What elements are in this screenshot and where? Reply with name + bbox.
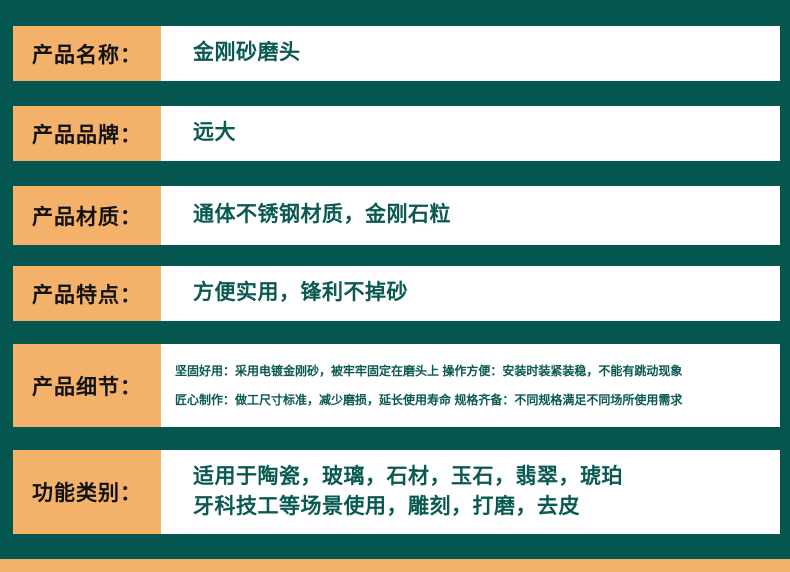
spec-label-function-category: 功能类别： [13,450,161,534]
spec-value-function-category: 适用于陶瓷，玻璃，石材，玉石，翡翠，琥珀 牙科技工等场景使用，雕刻，打磨，去皮 [161,450,780,534]
spec-value-product-material: 通体不锈钢材质，金刚石粒 [161,186,780,245]
spec-value-product-name: 金刚砂磨头 [161,26,780,81]
spec-value-line: 金刚砂磨头 [193,39,770,67]
spec-row-product-brand: 产品品牌： 远大 [13,106,780,161]
spec-value-product-feature: 方便实用，锋利不掉砂 [161,266,780,321]
spec-value-line: 远大 [193,119,770,147]
spec-value-line: 匠心制作：做工尺寸标准，减少磨损，延长使用寿命 规格齐备：不同规格满足不同场所使… [175,393,770,408]
spec-row-function-category: 功能类别： 适用于陶瓷，玻璃，石材，玉石，翡翠，琥珀 牙科技工等场景使用，雕刻，… [13,450,780,534]
spec-value-line: 适用于陶瓷，玻璃，石材，玉石，翡翠，琥珀 [193,462,770,492]
spec-value-line: 牙科技工等场景使用，雕刻，打磨，去皮 [193,492,770,522]
spec-value-line: 坚固好用：采用电镀金刚砂，被牢牢固定在磨头上 操作方便：安装时装紧装稳，不能有跳… [175,364,770,379]
spec-label-product-feature: 产品特点： [13,266,161,321]
spec-value-product-detail: 坚固好用：采用电镀金刚砂，被牢牢固定在磨头上 操作方便：安装时装紧装稳，不能有跳… [161,344,780,427]
spec-label-product-name: 产品名称： [13,26,161,81]
product-spec-sheet: 产品名称： 金刚砂磨头 产品品牌： 远大 产品材质： 通体不锈钢材质，金刚石粒 … [0,0,790,572]
spec-value-product-brand: 远大 [161,106,780,161]
spec-value-line: 通体不锈钢材质，金刚石粒 [193,201,770,229]
spec-label-product-detail: 产品细节： [13,344,161,427]
spec-row-product-name: 产品名称： 金刚砂磨头 [13,26,780,81]
spec-value-line: 方便实用，锋利不掉砂 [193,279,770,307]
spec-label-product-brand: 产品品牌： [13,106,161,161]
spec-label-product-material: 产品材质： [13,186,161,245]
spec-row-product-feature: 产品特点： 方便实用，锋利不掉砂 [13,266,780,321]
bottom-accent-bar [0,559,790,572]
spec-row-product-detail: 产品细节： 坚固好用：采用电镀金刚砂，被牢牢固定在磨头上 操作方便：安装时装紧装… [13,344,780,427]
spec-row-product-material: 产品材质： 通体不锈钢材质，金刚石粒 [13,186,780,245]
